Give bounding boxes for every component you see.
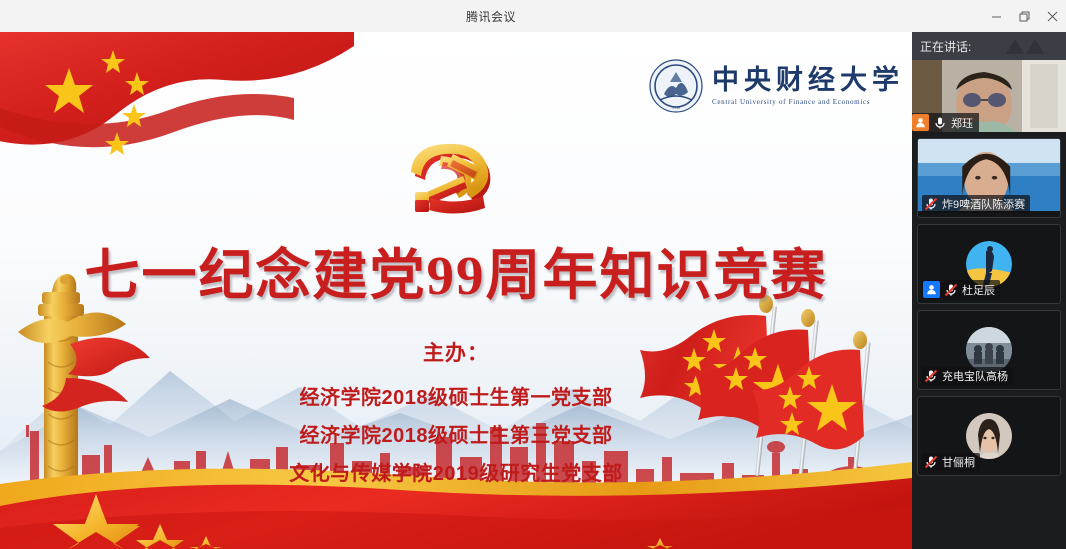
organizer-line-3: 文化与传媒学院2019级研究生党支部 [0, 457, 912, 486]
participant-name: 郑珏 [951, 115, 973, 131]
window-controls [982, 0, 1066, 32]
minimize-button[interactable] [982, 0, 1010, 32]
participant-tile[interactable]: 甘俪桐 [917, 396, 1061, 476]
svg-text:1949: 1949 [672, 105, 680, 110]
participant-name: 甘俪桐 [942, 454, 975, 470]
participant-avatar-badge-icon [923, 281, 940, 298]
participant-name: 充电宝队高杨 [942, 368, 1008, 384]
mic-on-icon [932, 115, 948, 131]
university-logo-text: 中央财经大学 Central University of Finance and… [712, 67, 904, 106]
participant-label: 杜足辰 [922, 280, 1000, 299]
mic-muted-icon [923, 368, 939, 384]
university-name-cn: 中央财经大学 [712, 67, 904, 94]
organizer-line-1: 经济学院2018级硕士生第一党支部 [0, 381, 912, 410]
speaking-status-header: 正在讲话: [912, 32, 1066, 60]
participant-label: 郑珏 [912, 113, 979, 132]
mic-muted-icon [943, 282, 959, 298]
slide-organizer-block: 主办： 经济学院2018级硕士生第一党支部 经济学院2018级硕士生第三党支部 … [0, 337, 912, 495]
participant-tile[interactable]: 充电宝队高杨 [917, 310, 1061, 390]
maximize-button[interactable] [1010, 0, 1038, 32]
participant-label: 炸9啤酒队陈添赛 [922, 195, 1030, 213]
participant-sidebar[interactable]: 正在讲话: [912, 32, 1066, 549]
mic-muted-icon [923, 196, 939, 212]
participant-tile[interactable]: 杜足辰 [917, 224, 1061, 304]
china-flag-top-left [0, 32, 354, 213]
slide-main-title: 七一纪念建党99周年知识竞赛 [0, 230, 912, 310]
university-seal-icon: 1949 [648, 58, 704, 114]
participant-label: 充电宝队高杨 [922, 367, 1013, 385]
shared-screen-stage[interactable]: 1949 中央财经大学 Central University of Financ… [0, 32, 912, 549]
tencent-meeting-window: 腾讯会议 [0, 0, 1066, 549]
mic-muted-icon [923, 454, 939, 470]
speaking-status-label: 正在讲话: [920, 38, 971, 55]
participant-name: 炸9啤酒队陈添赛 [942, 196, 1025, 212]
meeting-watermark-icon [1004, 36, 1048, 56]
window-title: 腾讯会议 [0, 8, 982, 25]
cpc-party-emblem-icon [397, 136, 515, 220]
organizer-heading: 主办： [0, 337, 912, 367]
close-button[interactable] [1038, 0, 1066, 32]
participant-name: 杜足辰 [962, 282, 995, 298]
participant-avatar-badge-icon [912, 114, 929, 131]
participant-tile[interactable]: 炸9啤酒队陈添赛 [917, 138, 1061, 218]
organizer-line-2: 经济学院2018级硕士生第三党支部 [0, 419, 912, 448]
participant-tile[interactable]: 郑珏 [912, 60, 1066, 132]
title-bar: 腾讯会议 [0, 0, 1066, 33]
presentation-slide: 1949 中央财经大学 Central University of Financ… [0, 32, 912, 549]
university-logo: 1949 中央财经大学 Central University of Financ… [648, 54, 904, 118]
university-name-en: Central University of Finance and Econom… [712, 99, 904, 106]
participant-label: 甘俪桐 [922, 453, 980, 471]
